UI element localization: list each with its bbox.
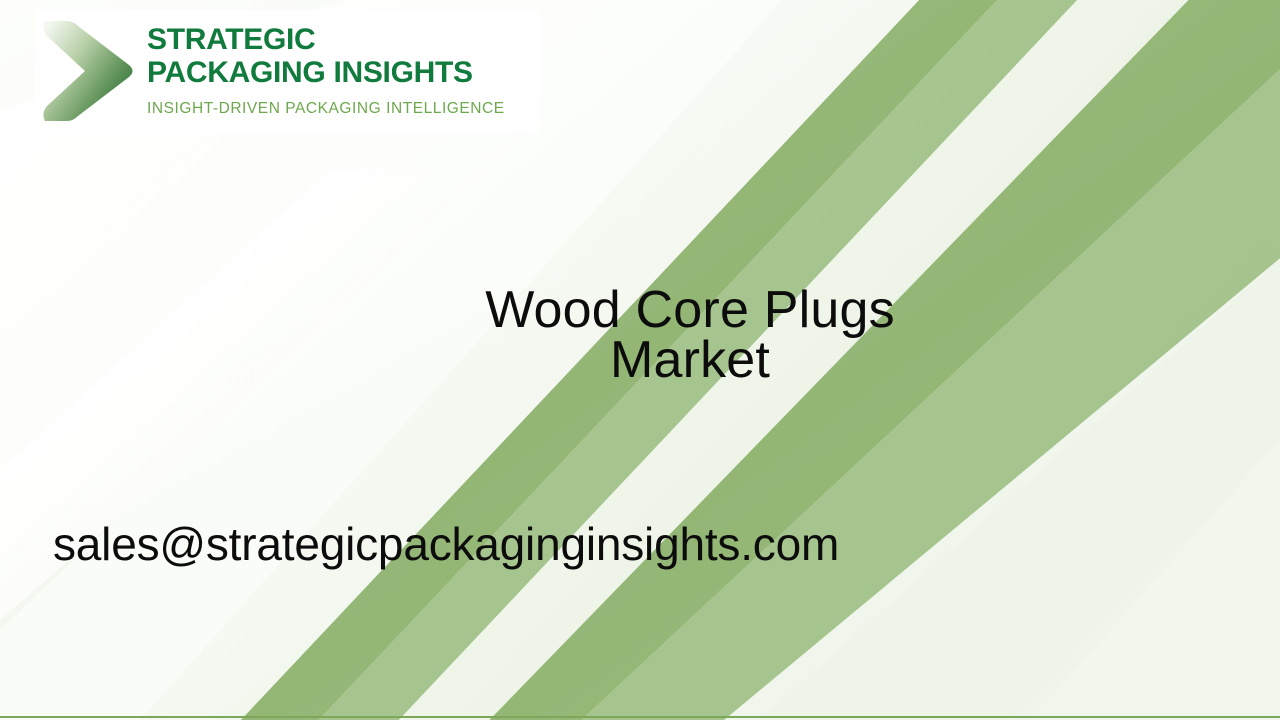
brand-tagline: INSIGHT-DRIVEN PACKAGING INTELLIGENCE (147, 98, 505, 120)
bottom-accent-rule (0, 716, 1280, 718)
page-title: Wood Core Plugs Market (290, 285, 1090, 385)
brand-line-2: PACKAGING INSIGHTS (147, 56, 505, 89)
pale-corner-lower-right (1030, 430, 1280, 720)
logo-lockup[interactable]: STRATEGIC PACKAGING INSIGHTS INSIGHT-DRI… (35, 10, 540, 132)
green-band-ascending-2 (560, 60, 1280, 720)
page-title-line-2: Market (290, 335, 1090, 385)
contact-email[interactable]: sales@strategicpackaginginsights.com (53, 512, 839, 576)
title-slide: STRATEGIC PACKAGING INSIGHTS INSIGHT-DRI… (0, 0, 1280, 720)
chevron-arrow-icon (37, 15, 137, 127)
page-title-line-1: Wood Core Plugs (290, 285, 1090, 335)
brand-line-1: STRATEGIC (147, 23, 505, 56)
logo-wordmark: STRATEGIC PACKAGING INSIGHTS INSIGHT-DRI… (147, 23, 505, 120)
